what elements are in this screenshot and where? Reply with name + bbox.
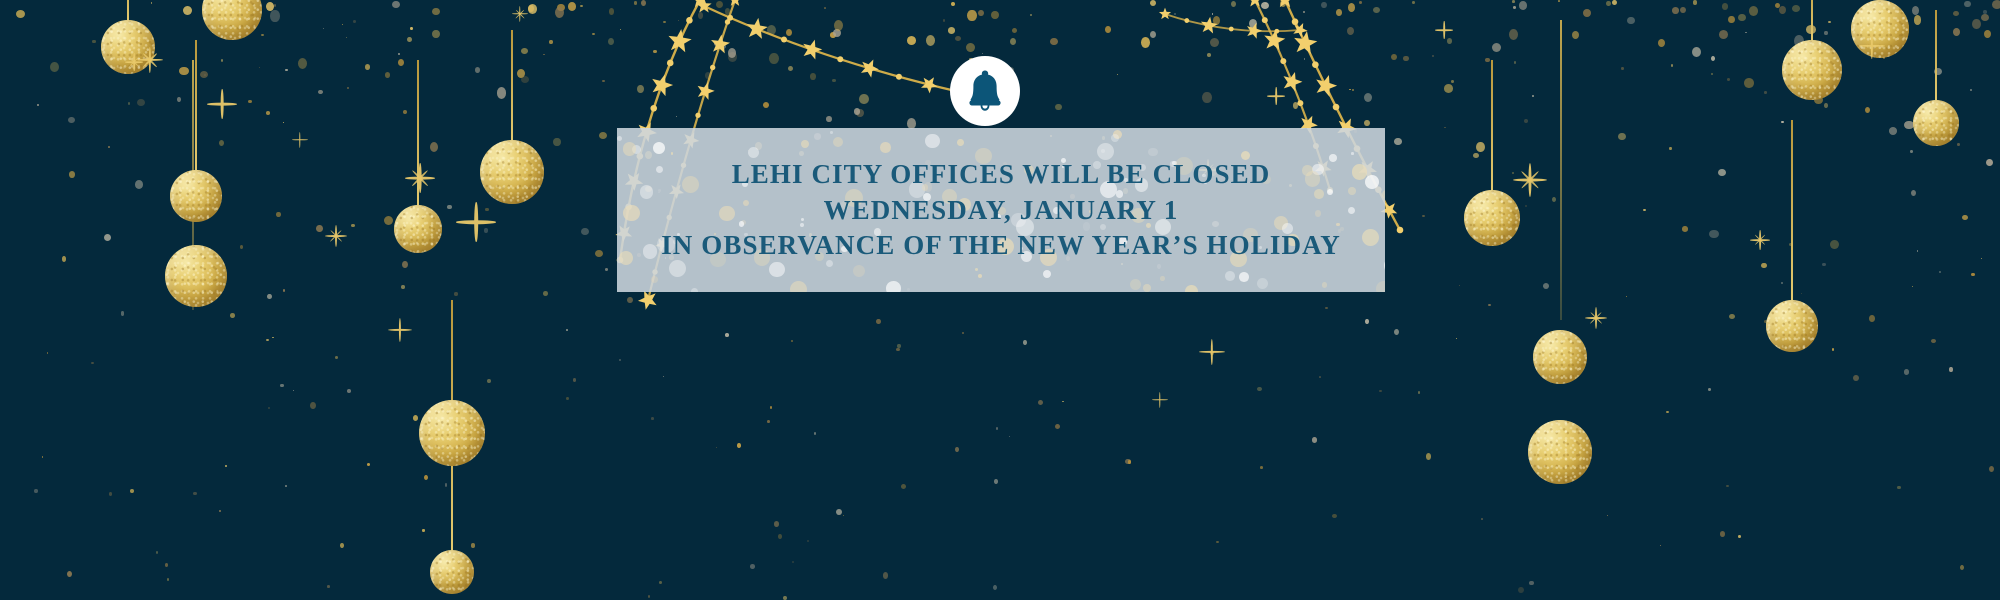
holiday-closure-banner: LEHI CITY OFFICES WILL BE CLOSED WEDNESD… [0, 0, 2000, 600]
announcement-text-block: LEHI CITY OFFICES WILL BE CLOSED WEDNESD… [617, 128, 1385, 292]
announcement-panel: LEHI CITY OFFICES WILL BE CLOSED WEDNESD… [617, 128, 1385, 292]
announcement-line-3: IN OBSERVANCE OF THE NEW YEAR’S HOLIDAY [661, 231, 1341, 260]
bell-icon [965, 70, 1005, 112]
announcement-line-1: LEHI CITY OFFICES WILL BE CLOSED [732, 160, 1271, 189]
bell-badge [950, 56, 1020, 126]
announcement-line-2: WEDNESDAY, JANUARY 1 [824, 196, 1179, 225]
